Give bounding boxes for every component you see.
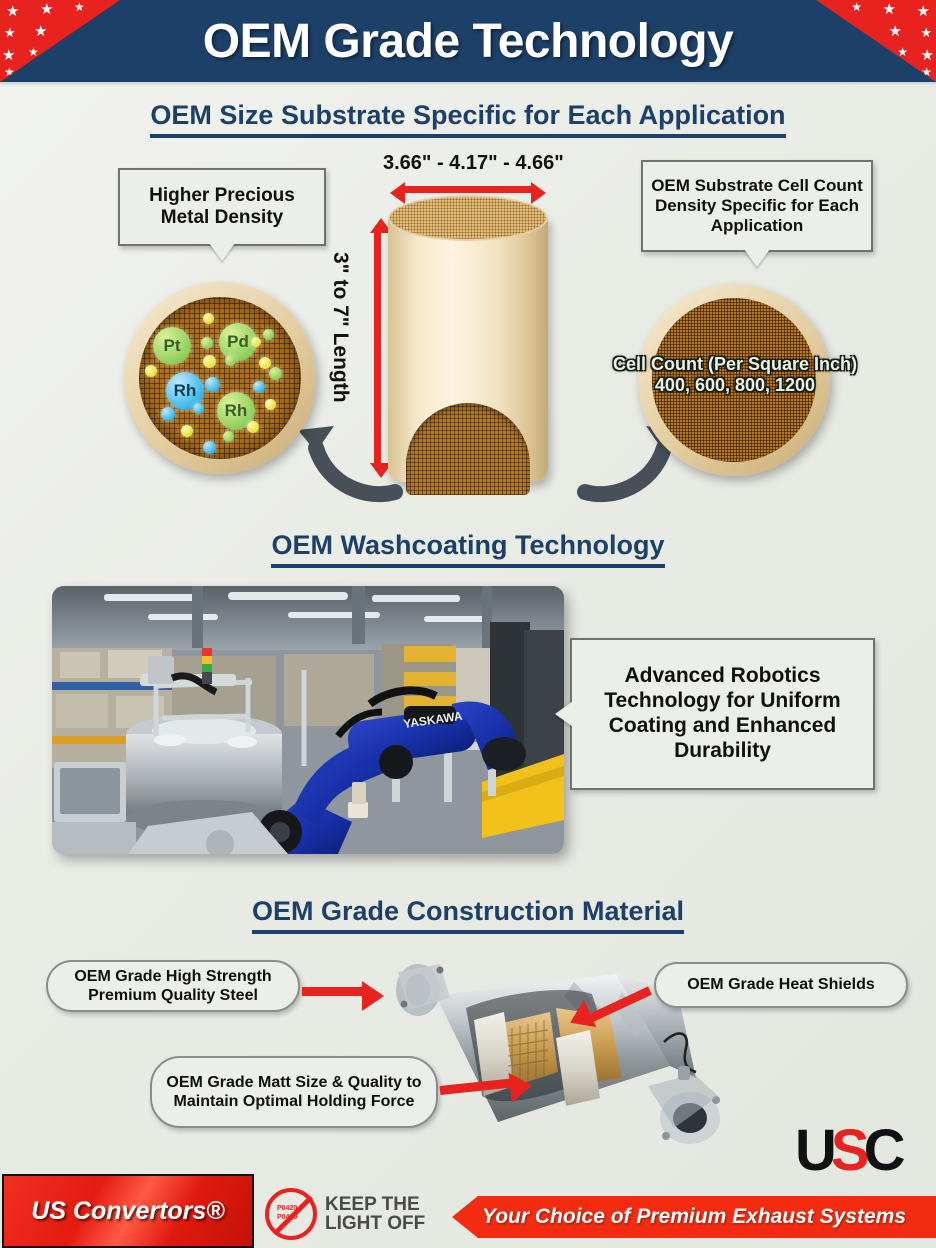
particle-dot [225,355,236,366]
particle-dot [259,357,271,369]
callout-higher-precious-metal-density: Higher Precious Metal Density [118,168,326,246]
particle-dot [161,407,175,421]
diameter-dimension-arrow [404,186,532,193]
particle-dot [203,313,214,324]
particle-dot [223,431,234,442]
diameter-dimension-label: 3.66" - 4.17" - 4.66" [383,152,564,175]
callout-tail-icon [555,701,573,727]
honeycomb-grid: Pt Pd Rh Rh [139,297,301,459]
particle-dot [247,421,259,433]
particle-dot [251,337,261,347]
length-dimension-label: 3" to 7" Length [328,252,352,403]
footer-tagline-banner: Your Choice of Premium Exhaust Systems [452,1196,936,1238]
callout-tail-icon [209,243,235,261]
particle-dot [203,355,216,368]
section-heading-size: OEM Size Substrate Specific for Each App… [0,100,936,138]
header-divider [0,82,936,86]
washcoating-robot-photo: YASKAWA [52,586,564,854]
callout-heat-shields: OEM Grade Heat Shields [654,962,908,1008]
keep-light-off-label: KEEP THELIGHT OFF [325,1195,425,1234]
keep-the-light-off-badge: P0420P0430 KEEP THELIGHT OFF [265,1188,425,1240]
precious-metal-particle-pt: Pt [153,327,191,365]
section-heading-washcoating: OEM Washcoating Technology [0,530,936,568]
callout-high-strength-steel: OEM Grade High Strength Premium Quality … [46,960,300,1012]
particle-dot [265,399,276,410]
infographic-page: ★ ★ ★ ★ ★ ★ ★ ★ ★ ★ ★ ★ ★ ★ ★ ★ OEM Grad… [0,0,936,1248]
page-header: ★ ★ ★ ★ ★ ★ ★ ★ ★ ★ ★ ★ ★ ★ ★ ★ OEM Grad… [0,0,936,82]
substrate-face-precious-metals: Pt Pd Rh Rh [124,282,316,474]
callout-matt-size-quality: OEM Grade Matt Size & Quality to Maintai… [150,1056,438,1128]
callout-tail-icon [744,249,770,267]
particle-dot [145,365,157,377]
no-check-engine-light-icon: P0420P0430 [265,1188,317,1240]
particle-dot [263,329,274,340]
section-heading-construction: OEM Grade Construction Material [0,896,936,934]
red-arrow-to-steel-shell [302,987,364,996]
particle-dot [253,381,265,393]
particle-dot [181,425,193,437]
curved-arrow-right-icon [290,400,690,510]
particle-dot [269,367,282,380]
particle-dot [193,403,204,414]
cell-count-label: Cell Count (Per Square Inch) 400, 600, 8… [596,354,874,395]
callout-oem-substrate-cell-count: OEM Substrate Cell Count Density Specifi… [641,160,873,252]
particle-dot [203,441,216,454]
particle-dot [205,377,220,392]
page-title: OEM Grade Technology [0,0,936,82]
cylinder-top-honeycomb-face [388,195,548,241]
us-convertors-logo: US Convertors® [2,1174,254,1248]
callout-advanced-robotics: Advanced Robotics Technology for Uniform… [570,638,875,790]
dtc-codes-label: P0420P0430 [277,1205,297,1223]
particle-dot [201,337,213,349]
